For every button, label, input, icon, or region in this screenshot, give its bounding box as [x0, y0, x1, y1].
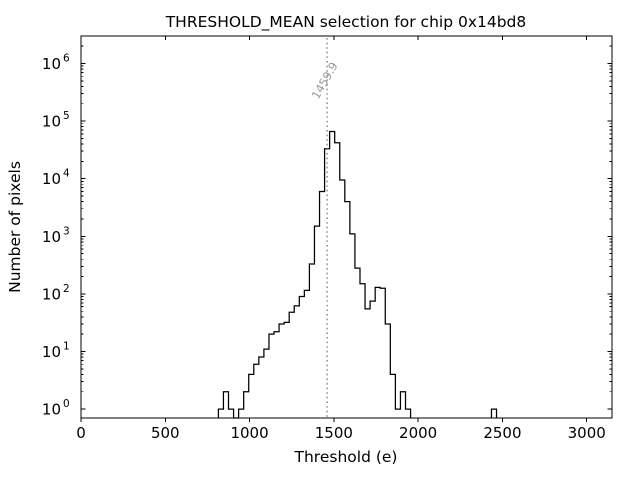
y-tick-exponent-0: 0	[63, 398, 70, 410]
x-tick-label-1000: 1000	[230, 424, 268, 442]
x-axis-ticks: 050010001500200025003000	[76, 36, 606, 442]
y-tick-label-1e1: 10	[42, 343, 61, 361]
histogram-series	[218, 131, 496, 418]
y-axis-minor-ticks	[81, 36, 612, 392]
y-tick-label-1e4: 10	[42, 170, 61, 188]
x-tick-label-3000: 3000	[568, 424, 606, 442]
x-tick-label-2500: 2500	[483, 424, 521, 442]
matplotlib-figure: THRESHOLD_MEAN selection for chip 0x14bd…	[0, 0, 640, 480]
y-tick-exponent-5: 5	[63, 110, 70, 122]
y-tick-label-1e6: 10	[42, 55, 61, 73]
y-tick-exponent-2: 2	[63, 283, 70, 295]
y-tick-exponent-3: 3	[63, 225, 70, 237]
plot-border	[81, 36, 612, 418]
y-tick-exponent-6: 6	[63, 52, 70, 64]
chart-title-group: THRESHOLD_MEAN selection for chip 0x14bd…	[165, 13, 527, 32]
histogram-step-line	[218, 131, 496, 418]
y-tick-label-1e2: 10	[42, 285, 61, 303]
threshold-mean-value-label: 1459.9	[309, 60, 341, 102]
x-tick-label-2000: 2000	[399, 424, 437, 442]
histogram-chart: THRESHOLD_MEAN selection for chip 0x14bd…	[0, 0, 640, 480]
y-tick-exponent-1: 1	[63, 340, 70, 352]
annotation-group: 1459.9	[309, 38, 341, 418]
y-tick-label-1e5: 10	[42, 113, 61, 131]
page-title: THRESHOLD_MEAN selection for chip 0x14bd…	[165, 13, 527, 32]
y-axis-label: Number of pixels	[6, 161, 24, 293]
y-tick-label-1e3: 10	[42, 228, 61, 246]
y-tick-label-1e0: 10	[42, 401, 61, 419]
x-tick-label-500: 500	[151, 424, 180, 442]
x-tick-label-0: 0	[76, 424, 86, 442]
axes-frame	[81, 36, 612, 418]
y-tick-exponent-4: 4	[63, 168, 70, 180]
x-tick-label-1500: 1500	[315, 424, 353, 442]
x-axis-label: Threshold (e)	[294, 448, 398, 466]
